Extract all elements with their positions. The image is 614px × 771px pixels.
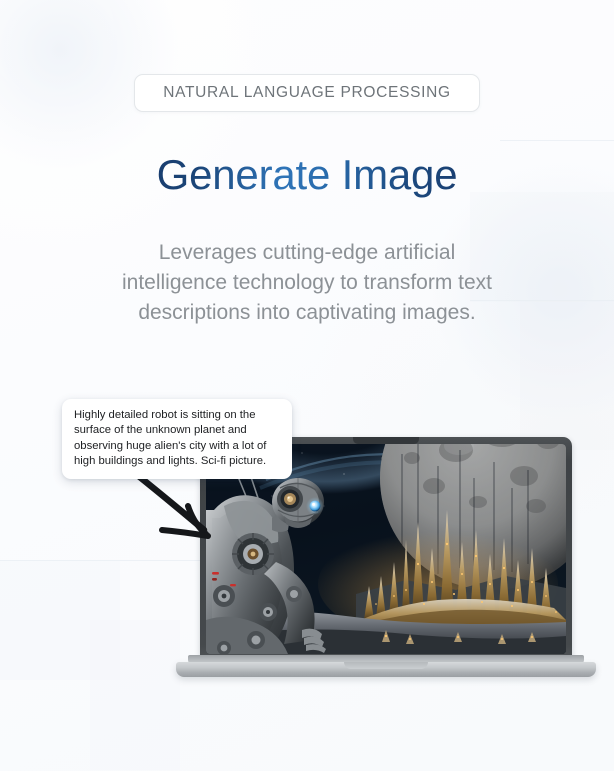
page-subtitle-line-3: descriptions into captivating images. <box>0 298 614 328</box>
laptop-base <box>176 662 596 677</box>
page-subtitle-line-2: intelligence technology to transform tex… <box>0 268 614 298</box>
laptop-camera-notch-icon <box>353 437 419 444</box>
page-subtitle-line-1: Leverages cutting-edge artificial <box>0 238 614 268</box>
section-badge-label: NATURAL LANGUAGE PROCESSING <box>163 84 451 102</box>
page-root: NATURAL LANGUAGE PROCESSING Generate Ima… <box>0 0 614 771</box>
prompt-tooltip-card: Highly detailed robot is sitting on the … <box>62 399 292 479</box>
prompt-text: Highly detailed robot is sitting on the … <box>74 408 280 469</box>
bg-line-2 <box>500 140 614 141</box>
page-title: Generate Image <box>0 152 614 198</box>
section-badge: NATURAL LANGUAGE PROCESSING <box>134 74 480 112</box>
hand-drawn-arrow-icon <box>132 468 242 563</box>
page-subtitle: Leverages cutting-edge artificial intell… <box>0 238 614 328</box>
bg-panel-4 <box>90 620 180 770</box>
